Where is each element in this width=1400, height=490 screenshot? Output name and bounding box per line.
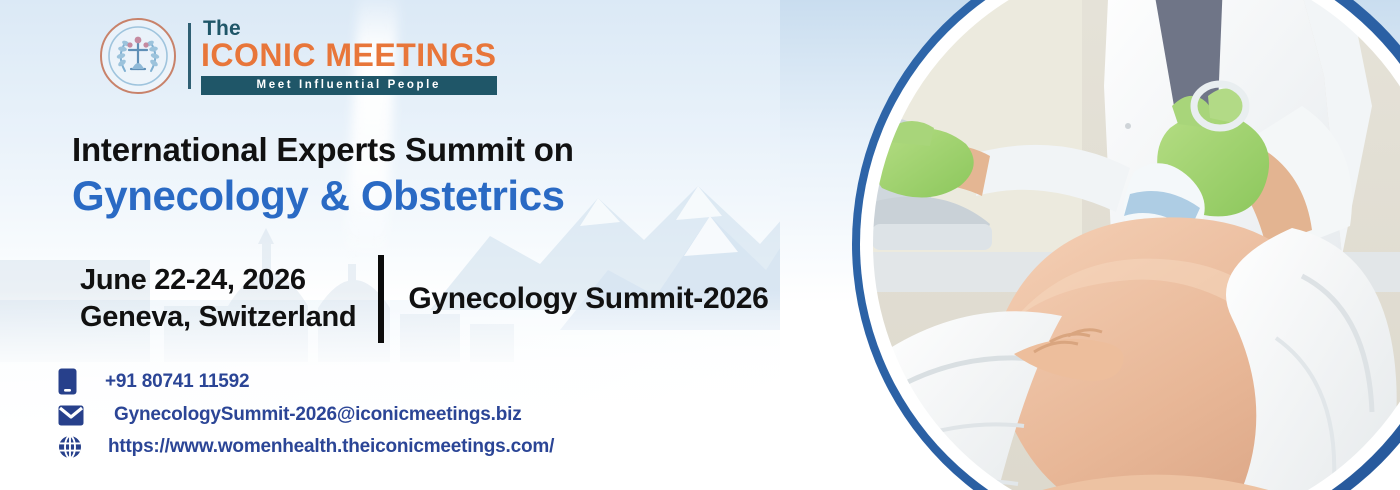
- logo-wordmark: The ICONIC MEETINGS Meet Influential Peo…: [201, 18, 497, 95]
- vertical-divider: [378, 255, 384, 343]
- phone-icon: [58, 368, 88, 395]
- brand-logo[interactable]: The ICONIC MEETINGS Meet Influential Peo…: [100, 18, 497, 95]
- contact-email[interactable]: GynecologySummit-2026@iconicmeetings.biz: [58, 404, 554, 426]
- contact-phone-text: +91 80741 11592: [105, 371, 249, 393]
- event-headline: International Experts Summit on Gynecolo…: [72, 132, 574, 221]
- contact-email-text: GynecologySummit-2026@iconicmeetings.biz: [114, 404, 522, 426]
- photo-inner-white-ring: [866, 0, 1400, 490]
- logo-divider: [188, 23, 191, 89]
- event-date: June 22-24, 2026: [80, 265, 356, 296]
- globe-icon: [58, 435, 88, 459]
- conference-banner: The ICONIC MEETINGS Meet Influential Peo…: [0, 0, 1400, 490]
- laurel-wreath-emblem-icon: [100, 18, 176, 94]
- hero-photo-circle: [862, 0, 1400, 490]
- logo-name-text: ICONIC MEETINGS: [201, 39, 497, 73]
- contact-website[interactable]: https://www.womenhealth.theiconicmeeting…: [58, 435, 554, 459]
- event-date-location: June 22-24, 2026 Geneva, Switzerland: [80, 265, 356, 333]
- headline-line-1: International Experts Summit on: [72, 132, 574, 169]
- event-location: Geneva, Switzerland: [80, 302, 356, 333]
- logo-the-text: The: [203, 18, 497, 39]
- logo-tagline-text: Meet Influential People: [257, 79, 441, 91]
- logo-tagline-bar: Meet Influential People: [201, 76, 497, 95]
- envelope-icon: [58, 405, 88, 426]
- contact-phone[interactable]: +91 80741 11592: [58, 368, 554, 395]
- event-short-name: Gynecology Summit-2026: [408, 282, 768, 316]
- contact-website-text: https://www.womenhealth.theiconicmeeting…: [108, 436, 554, 458]
- headline-line-2: Gynecology & Obstetrics: [72, 171, 574, 221]
- event-details-row: June 22-24, 2026 Geneva, Switzerland Gyn…: [80, 255, 769, 343]
- contact-list: +91 80741 11592 GynecologySummit-2026@ic…: [58, 368, 554, 459]
